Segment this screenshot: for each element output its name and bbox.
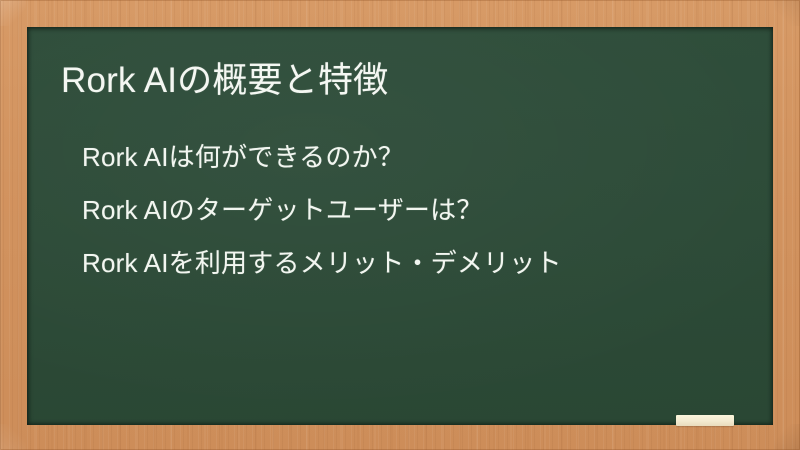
chalk-stick-icon <box>676 415 734 426</box>
list-item: Rork AIは何ができるのか？ <box>82 131 772 184</box>
chalkboard-surface: Rork AIの概要と特徴 Rork AIは何ができるのか？ Rork AIのタ… <box>27 27 773 425</box>
list-item: Rork AIのターゲットユーザーは？ <box>82 184 772 237</box>
page-title: Rork AIの概要と特徴 <box>61 58 388 104</box>
list-item: Rork AIを利用するメリット・デメリット <box>82 237 772 290</box>
chalkboard-slide: Rork AIの概要と特徴 Rork AIは何ができるのか？ Rork AIのタ… <box>0 0 800 450</box>
bullet-list: Rork AIは何ができるのか？ Rork AIのターゲットユーザーは？ Ror… <box>82 131 772 290</box>
